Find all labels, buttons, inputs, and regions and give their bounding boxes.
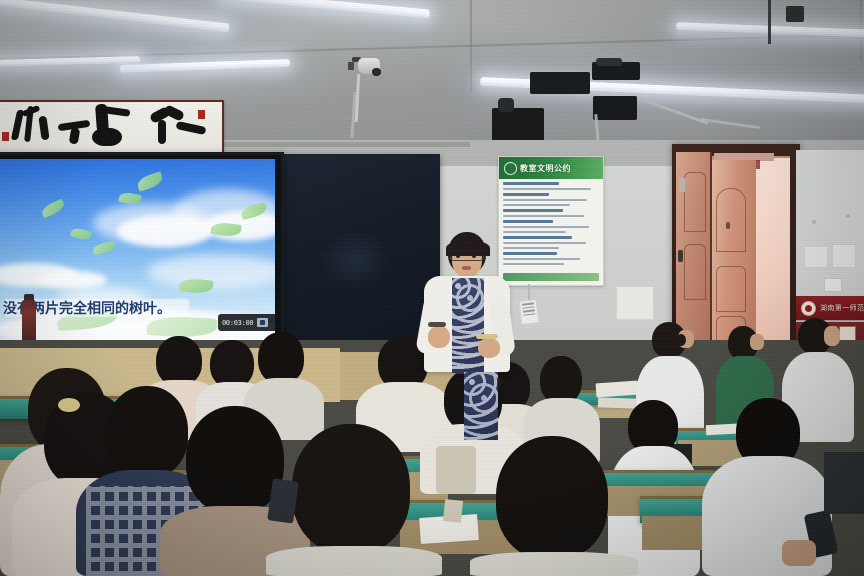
tag-text-line (522, 302, 534, 305)
cable (768, 0, 771, 44)
poster-heading-line (503, 236, 572, 239)
camera-mount (348, 62, 354, 70)
calligraphy-seal (198, 110, 205, 119)
teacher-mouth (462, 266, 471, 270)
leaf (92, 241, 115, 255)
student-hand (782, 540, 816, 566)
ceiling-fixture (786, 6, 804, 22)
student-head (156, 336, 202, 386)
leaf (178, 277, 213, 294)
wristwatch (428, 322, 446, 327)
teacher-hand-right (478, 338, 500, 358)
poster-text-line (503, 188, 591, 190)
poster-text-line (503, 226, 589, 228)
open-notebook (596, 381, 639, 398)
bracelet (476, 334, 498, 339)
student-body (266, 546, 442, 576)
chair-back (824, 452, 864, 514)
poster-heading-line (503, 220, 553, 223)
speaker-bracket (596, 58, 622, 66)
poster-text-line (503, 231, 566, 233)
door-panel (684, 172, 706, 232)
classroom-photograph: 没有两片完全相同的树叶。 00:03:00 教室文明公约 (0, 0, 864, 576)
poster-heading-line (503, 193, 549, 196)
door-handle-icon[interactable] (678, 250, 683, 262)
wall-socket (824, 278, 842, 292)
equipment-box (593, 96, 637, 120)
wall-panel (804, 246, 828, 268)
calligraphy-stroke (69, 127, 81, 144)
camera-lens-icon (372, 68, 381, 76)
pencil-case (443, 499, 463, 523)
calligraphy-artwork (0, 100, 224, 156)
calligraphy-stroke (158, 120, 166, 144)
poster-text-line (503, 247, 559, 249)
speaker-box-left (530, 72, 590, 94)
leaf (136, 171, 165, 191)
student-head (210, 340, 254, 388)
tag-text-line (523, 309, 535, 312)
projector-lens-icon (498, 98, 514, 112)
textbook (598, 397, 636, 408)
classroom-rules-poster: 教室文明公约 (498, 156, 604, 286)
video-thumbnail-icon[interactable] (257, 318, 268, 327)
poster-text-line (503, 215, 584, 217)
wall-fixture (846, 214, 850, 218)
student-head (540, 356, 582, 404)
poster-title: 教室文明公约 (520, 163, 571, 174)
poster-text-line (503, 258, 580, 260)
tag-text-line (522, 306, 534, 309)
water-bottle (22, 300, 36, 342)
wall-fixture (812, 220, 816, 224)
teacher-hand-left (428, 326, 450, 348)
blackboard-glare (320, 230, 390, 290)
poster-heading-line (503, 252, 557, 255)
video-player-controls[interactable]: 00:03:00 (218, 314, 280, 331)
university-seal-icon (801, 301, 816, 316)
leaf (40, 199, 66, 219)
calligraphy-stroke (175, 121, 206, 135)
student-face (824, 326, 840, 346)
student-face (750, 334, 764, 350)
poster-text-line (503, 204, 570, 206)
door-knob-icon[interactable] (726, 222, 730, 229)
ceiling-seam (470, 0, 472, 92)
poster-text-line (503, 242, 586, 244)
student-head (258, 332, 304, 384)
student-body (470, 552, 638, 576)
poster-text-line (503, 263, 564, 265)
calligraphy-stroke (92, 128, 122, 146)
skirt-floral-pattern (464, 372, 498, 440)
poster-body (503, 182, 599, 270)
poster-heading-line (503, 209, 563, 212)
backpack (436, 446, 476, 494)
hanging-tag (519, 299, 540, 325)
student-head (292, 424, 410, 554)
wall-notice (616, 286, 654, 320)
calligraphy-seal (2, 132, 9, 141)
hair-clip (58, 398, 80, 412)
video-timestamp: 00:03:00 (222, 319, 253, 327)
door-panel (716, 188, 746, 252)
calligraphy-stroke (38, 116, 49, 141)
poster-heading-line (503, 182, 559, 185)
poster-text-line (503, 199, 587, 201)
teacher-hair-top (446, 240, 490, 256)
circle-emblem-icon (504, 162, 517, 175)
door-plate (679, 178, 685, 192)
student-head (496, 436, 608, 560)
university-banner: 湖南第一师范学院 (796, 296, 864, 320)
dress-floral-pattern (452, 278, 484, 374)
leaf (70, 226, 92, 242)
hair-tie (676, 334, 686, 346)
student-head (106, 386, 188, 478)
university-name: 湖南第一师范学院 (820, 303, 864, 313)
wall-panel (832, 244, 856, 268)
calligraphy-stroke (163, 104, 185, 122)
poster-header: 教室文明公约 (499, 157, 603, 179)
tag-text-line (523, 313, 535, 316)
door-panel (684, 244, 706, 300)
poster-footer (503, 273, 599, 281)
door-panel (716, 266, 746, 312)
